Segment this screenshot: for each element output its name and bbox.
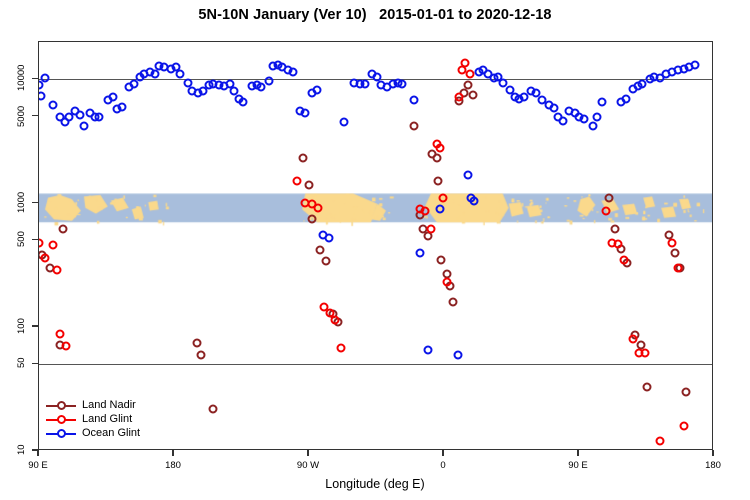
data-point xyxy=(56,330,65,339)
data-point xyxy=(38,92,45,101)
x-tick-mark xyxy=(577,450,578,456)
data-point xyxy=(620,255,629,264)
legend-label: Ocean Glint xyxy=(82,427,140,439)
y-tick-mark xyxy=(32,239,38,240)
x-axis-label: Longitude (deg E) xyxy=(0,477,750,491)
data-point xyxy=(314,203,323,212)
data-point xyxy=(312,86,321,95)
data-point xyxy=(183,78,192,87)
data-point xyxy=(435,143,444,152)
y-tick-mark xyxy=(32,115,38,116)
data-point xyxy=(59,224,68,233)
data-point xyxy=(305,181,314,190)
data-point xyxy=(642,382,651,391)
data-point xyxy=(437,255,446,264)
y-tick-label: 5000 xyxy=(16,100,27,132)
chart-title: 5N-10N January (Ver 10) 2015-01-01 to 20… xyxy=(0,7,750,23)
x-tick-label: 0 xyxy=(440,460,445,471)
data-point xyxy=(668,238,677,247)
y-tick-label: 50 xyxy=(16,347,27,379)
data-point xyxy=(423,345,432,354)
legend-item-ocean-glint: Ocean Glint xyxy=(46,426,140,440)
data-point xyxy=(579,114,588,123)
legend-label: Land Nadir xyxy=(82,399,136,411)
y-tick-label: 500 xyxy=(16,223,27,255)
x-tick-label: 90 W xyxy=(297,460,319,471)
data-point xyxy=(465,70,474,79)
data-point xyxy=(288,67,297,76)
chart-figure: 5N-10N January (Ver 10) 2015-01-01 to 20… xyxy=(0,0,750,500)
data-point xyxy=(48,241,57,250)
y-tick-label: 100 xyxy=(16,310,27,342)
data-point xyxy=(443,278,452,287)
data-point xyxy=(621,94,630,103)
data-point xyxy=(434,177,443,186)
data-point xyxy=(339,118,348,127)
data-point xyxy=(209,404,218,413)
data-point xyxy=(656,437,665,446)
y-tick-label: 10000 xyxy=(16,62,27,94)
data-point xyxy=(461,59,470,68)
data-point xyxy=(53,265,62,274)
data-point xyxy=(41,254,50,263)
y-tick-mark xyxy=(32,78,38,79)
data-point xyxy=(464,81,473,90)
data-point xyxy=(611,224,620,233)
data-point xyxy=(95,112,104,121)
data-point xyxy=(257,83,266,92)
data-point xyxy=(299,154,308,163)
legend-marker-icon xyxy=(46,399,76,412)
data-point xyxy=(48,101,57,110)
data-point xyxy=(315,245,324,254)
data-point xyxy=(641,348,650,357)
data-point xyxy=(239,97,248,106)
data-point xyxy=(614,239,623,248)
data-point xyxy=(549,103,558,112)
data-point xyxy=(681,387,690,396)
x-tick-label: 180 xyxy=(705,460,721,471)
data-point xyxy=(605,194,614,203)
data-point xyxy=(416,248,425,257)
data-point xyxy=(197,350,206,359)
legend-item-land-glint: Land Glint xyxy=(46,412,140,426)
data-point xyxy=(464,170,473,179)
x-tick-label: 90 E xyxy=(28,460,48,471)
data-point xyxy=(588,122,597,131)
data-point xyxy=(38,238,44,247)
data-point xyxy=(435,204,444,213)
data-point xyxy=(150,70,159,79)
data-point xyxy=(192,338,201,347)
data-point xyxy=(420,206,429,215)
data-point xyxy=(324,234,333,243)
data-point xyxy=(176,70,185,79)
x-tick-label: 90 E xyxy=(568,460,588,471)
data-point xyxy=(680,421,689,430)
plot-area xyxy=(38,41,713,450)
x-tick-mark xyxy=(307,450,308,456)
data-point xyxy=(671,248,680,257)
data-point xyxy=(308,214,317,223)
data-point xyxy=(470,196,479,205)
y-tick-label: 1000 xyxy=(16,186,27,218)
y-tick-mark xyxy=(32,325,38,326)
x-tick-mark xyxy=(37,450,38,456)
data-point xyxy=(602,206,611,215)
data-point xyxy=(438,194,447,203)
data-point xyxy=(597,97,606,106)
legend-item-land-nadir: Land Nadir xyxy=(46,398,140,412)
x-tick-mark xyxy=(442,450,443,456)
data-point xyxy=(360,79,369,88)
data-point xyxy=(336,343,345,352)
data-point xyxy=(674,264,683,273)
data-point xyxy=(410,96,419,105)
data-point xyxy=(62,342,71,351)
data-point xyxy=(455,93,464,102)
data-point xyxy=(426,224,435,233)
data-point xyxy=(75,110,84,119)
data-point xyxy=(80,122,89,131)
data-point xyxy=(264,76,273,85)
data-point xyxy=(330,315,339,324)
data-point xyxy=(629,335,638,344)
legend-marker-icon xyxy=(46,413,76,426)
data-point xyxy=(468,90,477,99)
data-point xyxy=(593,112,602,121)
x-tick-label: 180 xyxy=(165,460,181,471)
data-point xyxy=(453,350,462,359)
data-point xyxy=(41,74,50,83)
data-point xyxy=(410,122,419,131)
y-tick-mark xyxy=(32,363,38,364)
legend: Land NadirLand GlintOcean Glint xyxy=(46,398,140,440)
legend-marker-icon xyxy=(46,427,76,440)
data-point xyxy=(498,78,507,87)
data-point xyxy=(432,154,441,163)
gridline xyxy=(39,364,712,365)
data-point xyxy=(398,79,407,88)
data-point xyxy=(300,108,309,117)
data-point xyxy=(558,117,567,126)
data-point xyxy=(293,177,302,186)
data-point xyxy=(321,257,330,266)
data-point xyxy=(108,93,117,102)
data-point xyxy=(449,297,458,306)
y-tick-label: 10 xyxy=(16,434,27,466)
x-tick-mark xyxy=(172,450,173,456)
data-point xyxy=(117,102,126,111)
x-tick-mark xyxy=(712,450,713,456)
data-point xyxy=(690,61,699,70)
legend-label: Land Glint xyxy=(82,413,132,425)
y-tick-mark xyxy=(32,202,38,203)
